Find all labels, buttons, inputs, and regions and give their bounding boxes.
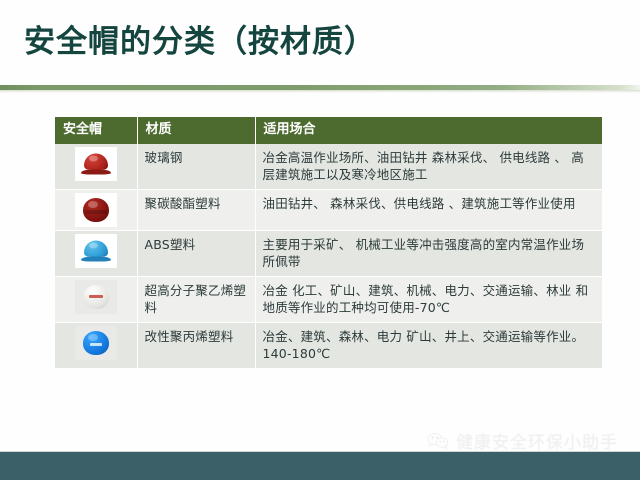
- usage-cell: 油田钻井、 森林采伐、供电线路 、建筑施工等作业使用: [255, 190, 602, 231]
- material-cell: 超高分子聚乙烯塑料: [137, 277, 255, 323]
- material-cell: 聚碳酸酯塑料: [137, 190, 255, 231]
- material-cell: 玻璃钢: [137, 144, 255, 190]
- helmet-image-cell: [55, 323, 137, 369]
- column-header-usage: 适用场合: [255, 117, 602, 144]
- slide-canvas: 安全帽的分类（按材质） 安全帽 材质 适用场合: [0, 0, 640, 480]
- table-row: 改性聚丙烯塑料 冶金、建筑、森林、电力 矿山、井上、交通运输等作业。140-18…: [55, 323, 602, 369]
- usage-cell: 冶金 化工、矿山、建筑、机械、电力、交通运输、林业 和地质等作业的工种均可使用-…: [255, 277, 602, 323]
- table-row: 玻璃钢 冶金高温作业场所、油田钻井 森林采伐、 供电线路 、 高层建筑施工以及寒…: [55, 144, 602, 190]
- table-row: 聚碳酸酯塑料 油田钻井、 森林采伐、供电线路 、建筑施工等作业使用: [55, 190, 602, 231]
- helmet-image-cell: [55, 144, 137, 190]
- material-cell: 改性聚丙烯塑料: [137, 323, 255, 369]
- usage-cell: 主要用于采矿、 机械工业等冲击强度高的室内常温作业场所佩带: [255, 231, 602, 277]
- table-row: 超高分子聚乙烯塑料 冶金 化工、矿山、建筑、机械、电力、交通运输、林业 和地质等…: [55, 277, 602, 323]
- table-body: 玻璃钢 冶金高温作业场所、油田钻井 森林采伐、 供电线路 、 高层建筑施工以及寒…: [55, 144, 602, 369]
- material-cell: ABS塑料: [137, 231, 255, 277]
- table-row: ABS塑料 主要用于采矿、 机械工业等冲击强度高的室内常温作业场所佩带: [55, 231, 602, 277]
- wechat-icon: [427, 432, 449, 450]
- table: 安全帽 材质 适用场合 玻璃钢 冶金高温作业场所、油田钻井 森林采伐、 供电线路…: [55, 117, 602, 369]
- classification-table: 安全帽 材质 适用场合 玻璃钢 冶金高温作业场所、油田钻井 森林采伐、 供电线路…: [55, 117, 602, 369]
- helmet-thumbnail-bright-blue: [75, 326, 117, 360]
- usage-cell: 冶金高温作业场所、油田钻井 森林采伐、 供电线路 、 高层建筑施工以及寒冷地区施…: [255, 144, 602, 190]
- title-divider-shadow: [0, 90, 640, 93]
- watermark-text: 健康安全环保小助手: [456, 428, 618, 453]
- bottom-bar: [0, 452, 640, 480]
- column-header-helmet: 安全帽: [55, 117, 137, 144]
- helmet-image-cell: [55, 277, 137, 323]
- watermark: 健康安全环保小助手: [427, 428, 618, 453]
- page-title: 安全帽的分类（按材质）: [24, 22, 376, 62]
- column-header-material: 材质: [137, 117, 255, 144]
- table-header-row: 安全帽 材质 适用场合: [55, 117, 602, 144]
- helmet-thumbnail-dark-red: [75, 193, 117, 227]
- helmet-thumbnail-white: [75, 280, 117, 314]
- helmet-thumbnail-red: [75, 147, 117, 181]
- helmet-image-cell: [55, 190, 137, 231]
- helmet-image-cell: [55, 231, 137, 277]
- usage-cell: 冶金、建筑、森林、电力 矿山、井上、交通运输等作业。140-180℃: [255, 323, 602, 369]
- table-head: 安全帽 材质 适用场合: [55, 117, 602, 144]
- helmet-thumbnail-blue: [75, 234, 117, 268]
